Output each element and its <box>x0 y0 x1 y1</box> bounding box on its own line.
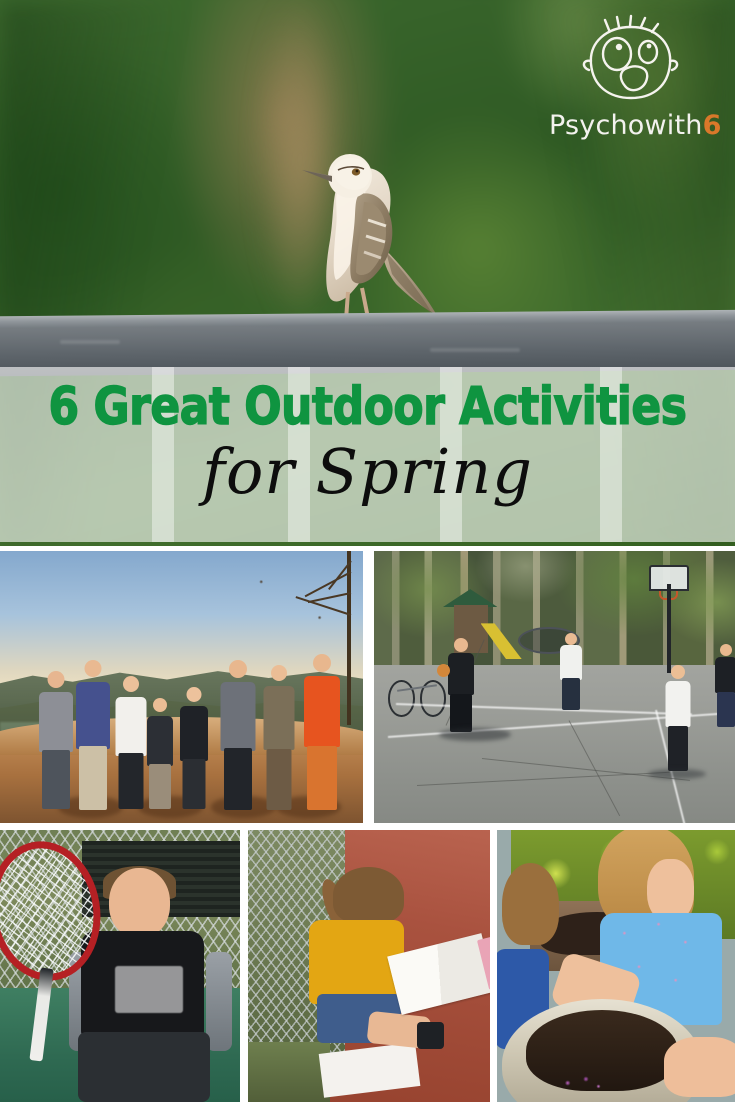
child-figure <box>713 644 735 726</box>
psychowith6-face-logo-icon <box>569 14 689 106</box>
railing-speck <box>60 340 120 344</box>
photo-family-hike <box>0 551 363 823</box>
tennis-racket <box>0 841 101 1053</box>
brand-wordmark: Psychowith6 <box>549 110 709 141</box>
child-figure <box>558 633 584 709</box>
page-title: 6 Great Outdoor Activities <box>22 380 713 434</box>
photo-driveway-basketball <box>374 551 735 823</box>
brand-wordmark-accent: 6 <box>703 110 722 141</box>
basketball-hoop <box>638 565 702 674</box>
railing-speck <box>430 348 520 352</box>
person-figure <box>36 671 76 807</box>
person-figure <box>113 676 149 807</box>
person-figure <box>218 660 258 807</box>
person-figure <box>73 660 113 807</box>
pinterest-pin: Psychowith6 6 Great Outdoor Activities f… <box>0 0 735 1102</box>
person-figure <box>178 687 210 807</box>
person-figure <box>145 698 175 807</box>
page-subtitle: for Spring <box>0 437 735 507</box>
photo-girl-reading <box>248 830 490 1102</box>
photo-row-middle <box>0 551 735 823</box>
photo-kids-planting <box>497 830 735 1102</box>
mockingbird-icon <box>286 128 466 328</box>
childs-hand <box>664 1037 735 1097</box>
photo-row-bottom <box>0 830 735 1102</box>
child-with-basketball <box>446 638 476 730</box>
purple-flowers <box>554 1069 611 1096</box>
brand-wordmark-text: Psychowith <box>549 110 703 141</box>
brand-logo[interactable]: Psychowith6 <box>549 14 709 141</box>
person-figure <box>301 654 343 806</box>
child-figure <box>663 665 693 768</box>
hero-photo: Psychowith6 6 Great Outdoor Activities f… <box>0 0 735 546</box>
photo-boy-tennis <box>0 830 240 1102</box>
bicycle <box>388 679 446 717</box>
person-figure <box>261 665 297 806</box>
